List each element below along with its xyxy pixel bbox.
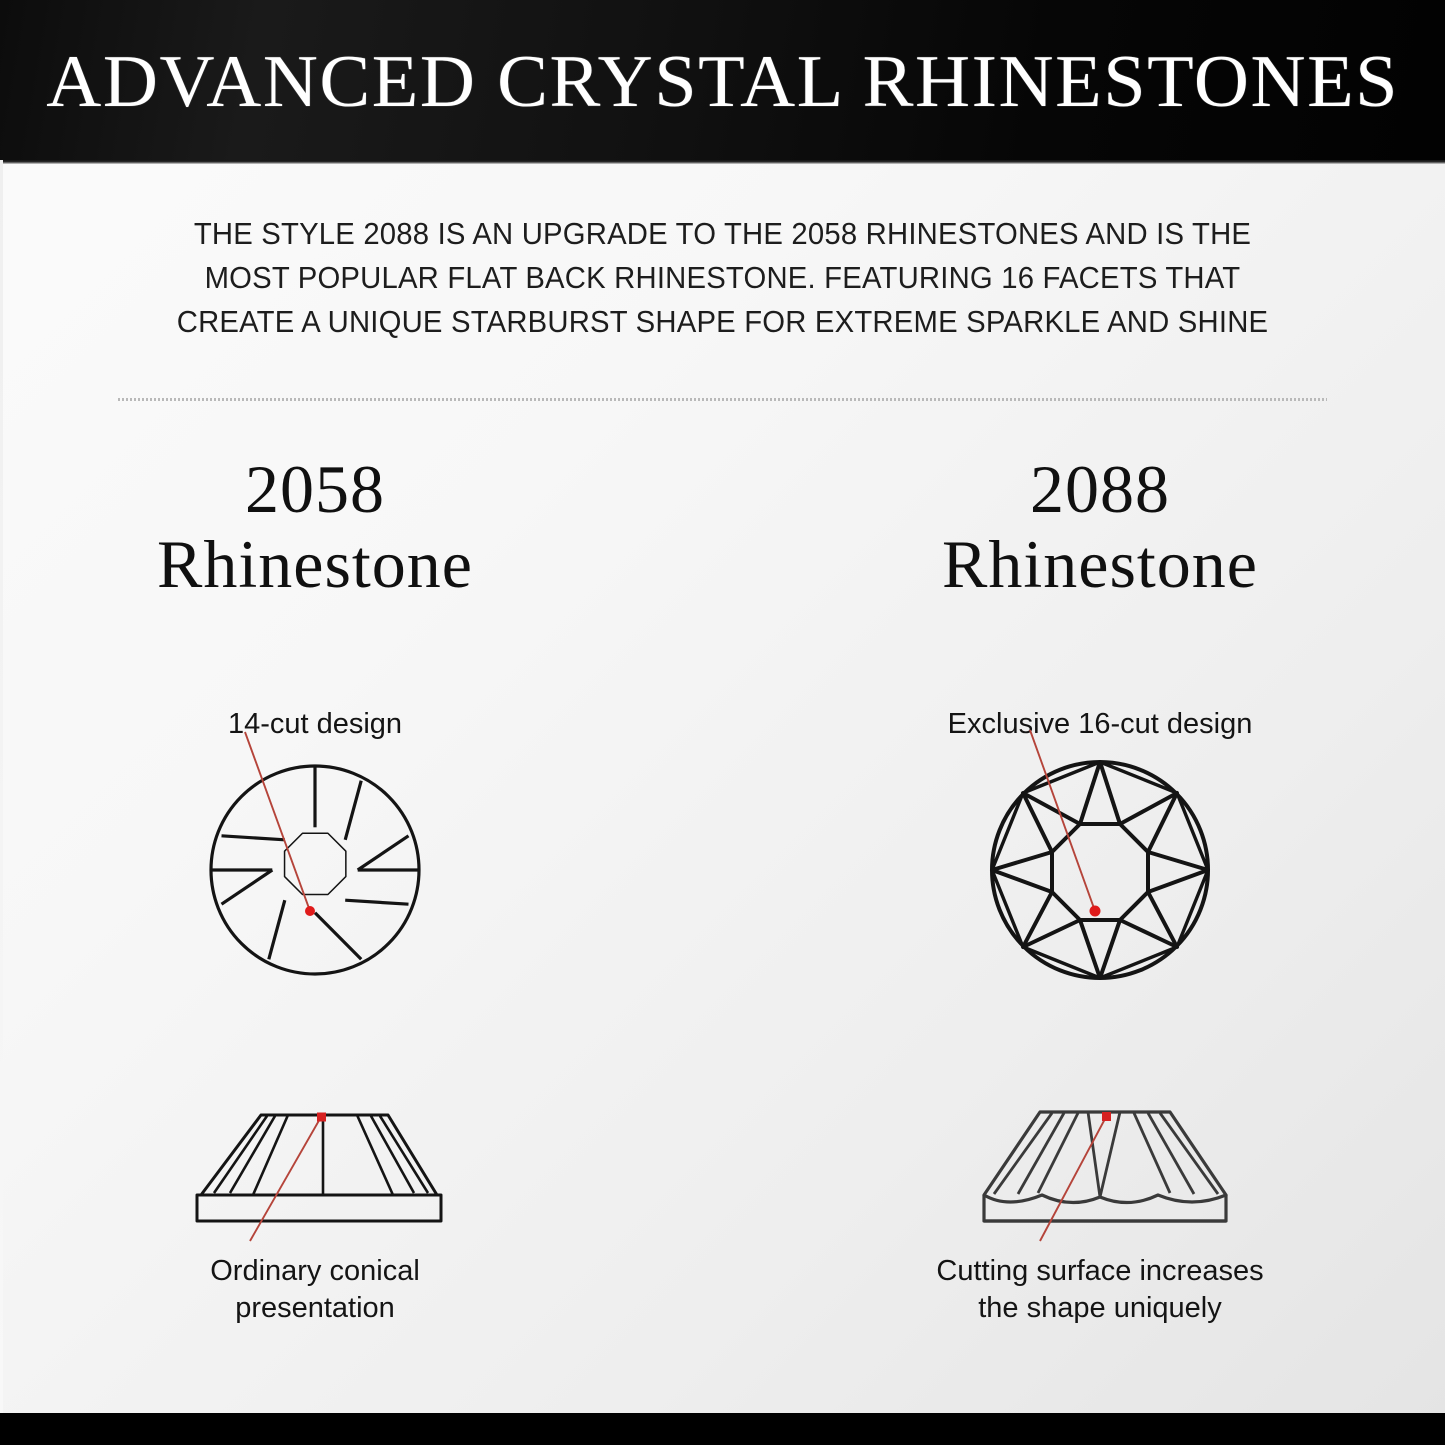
left-edge-highlight (0, 160, 3, 1413)
column-title-word: Rhinestone (5, 530, 625, 599)
caption-line-1: Cutting surface increases (790, 1253, 1410, 1290)
intro-line-1: THE STYLE 2088 IS AN UPGRADE TO THE 2058… (136, 212, 1308, 256)
leader-line-2088-top (1030, 730, 1095, 911)
intro-paragraph: THE STYLE 2088 IS AN UPGRADE TO THE 2058… (136, 212, 1308, 344)
leader-marker-2058-side (317, 1112, 326, 1121)
top-view-diagram-2058 (5, 725, 625, 1025)
caption-line-1: Ordinary conical (5, 1253, 625, 1290)
top-view-diagram-2088 (790, 725, 1410, 1025)
intro-line-3: CREATE A UNIQUE STARBURST SHAPE FOR EXTR… (136, 300, 1308, 344)
bottom-bar (0, 1413, 1445, 1445)
inner-table-octagon-2088 (1052, 824, 1148, 920)
header-divider-rule (0, 160, 1445, 164)
product-column-2088: 2088 Rhinestone Exclusive 16-cut design (790, 455, 1410, 1327)
star-points-2088 (992, 762, 1208, 978)
side-view-diagram-2058 (5, 1093, 625, 1243)
leader-marker-2058-top (305, 906, 315, 916)
intro-line-2: MOST POPULAR FLAT BACK RHINESTONE. FEATU… (136, 256, 1308, 300)
column-title-word: Rhinestone (790, 530, 1410, 599)
header-banner: ADVANCED CRYSTAL RHINESTONES (0, 0, 1445, 160)
column-title-2058: 2058 Rhinestone (5, 455, 625, 600)
infographic-page: ADVANCED CRYSTAL RHINESTONES THE STYLE 2… (0, 0, 1445, 1445)
page-title: ADVANCED CRYSTAL RHINESTONES (46, 41, 1399, 119)
leader-marker-2088-side (1102, 1112, 1111, 1121)
product-column-2058: 2058 Rhinestone 14-cut design (5, 455, 625, 1327)
leader-marker-2088-top (1090, 905, 1101, 916)
caption-line-2: the shape uniquely (790, 1290, 1410, 1327)
caption-line-2: presentation (5, 1290, 625, 1327)
base-slab-2058 (197, 1195, 441, 1221)
section-divider (118, 398, 1327, 401)
leader-line-2058-top (245, 732, 310, 911)
side-view-diagram-2088 (790, 1093, 1410, 1243)
column-title-2088: 2088 Rhinestone (790, 455, 1410, 600)
caption-2058: Ordinary conical presentation (5, 1253, 625, 1327)
column-title-number: 2058 (5, 455, 625, 524)
caption-2088: Cutting surface increases the shape uniq… (790, 1253, 1410, 1327)
column-title-number: 2088 (790, 455, 1410, 524)
side-facet-lines-2088 (994, 1112, 1218, 1197)
